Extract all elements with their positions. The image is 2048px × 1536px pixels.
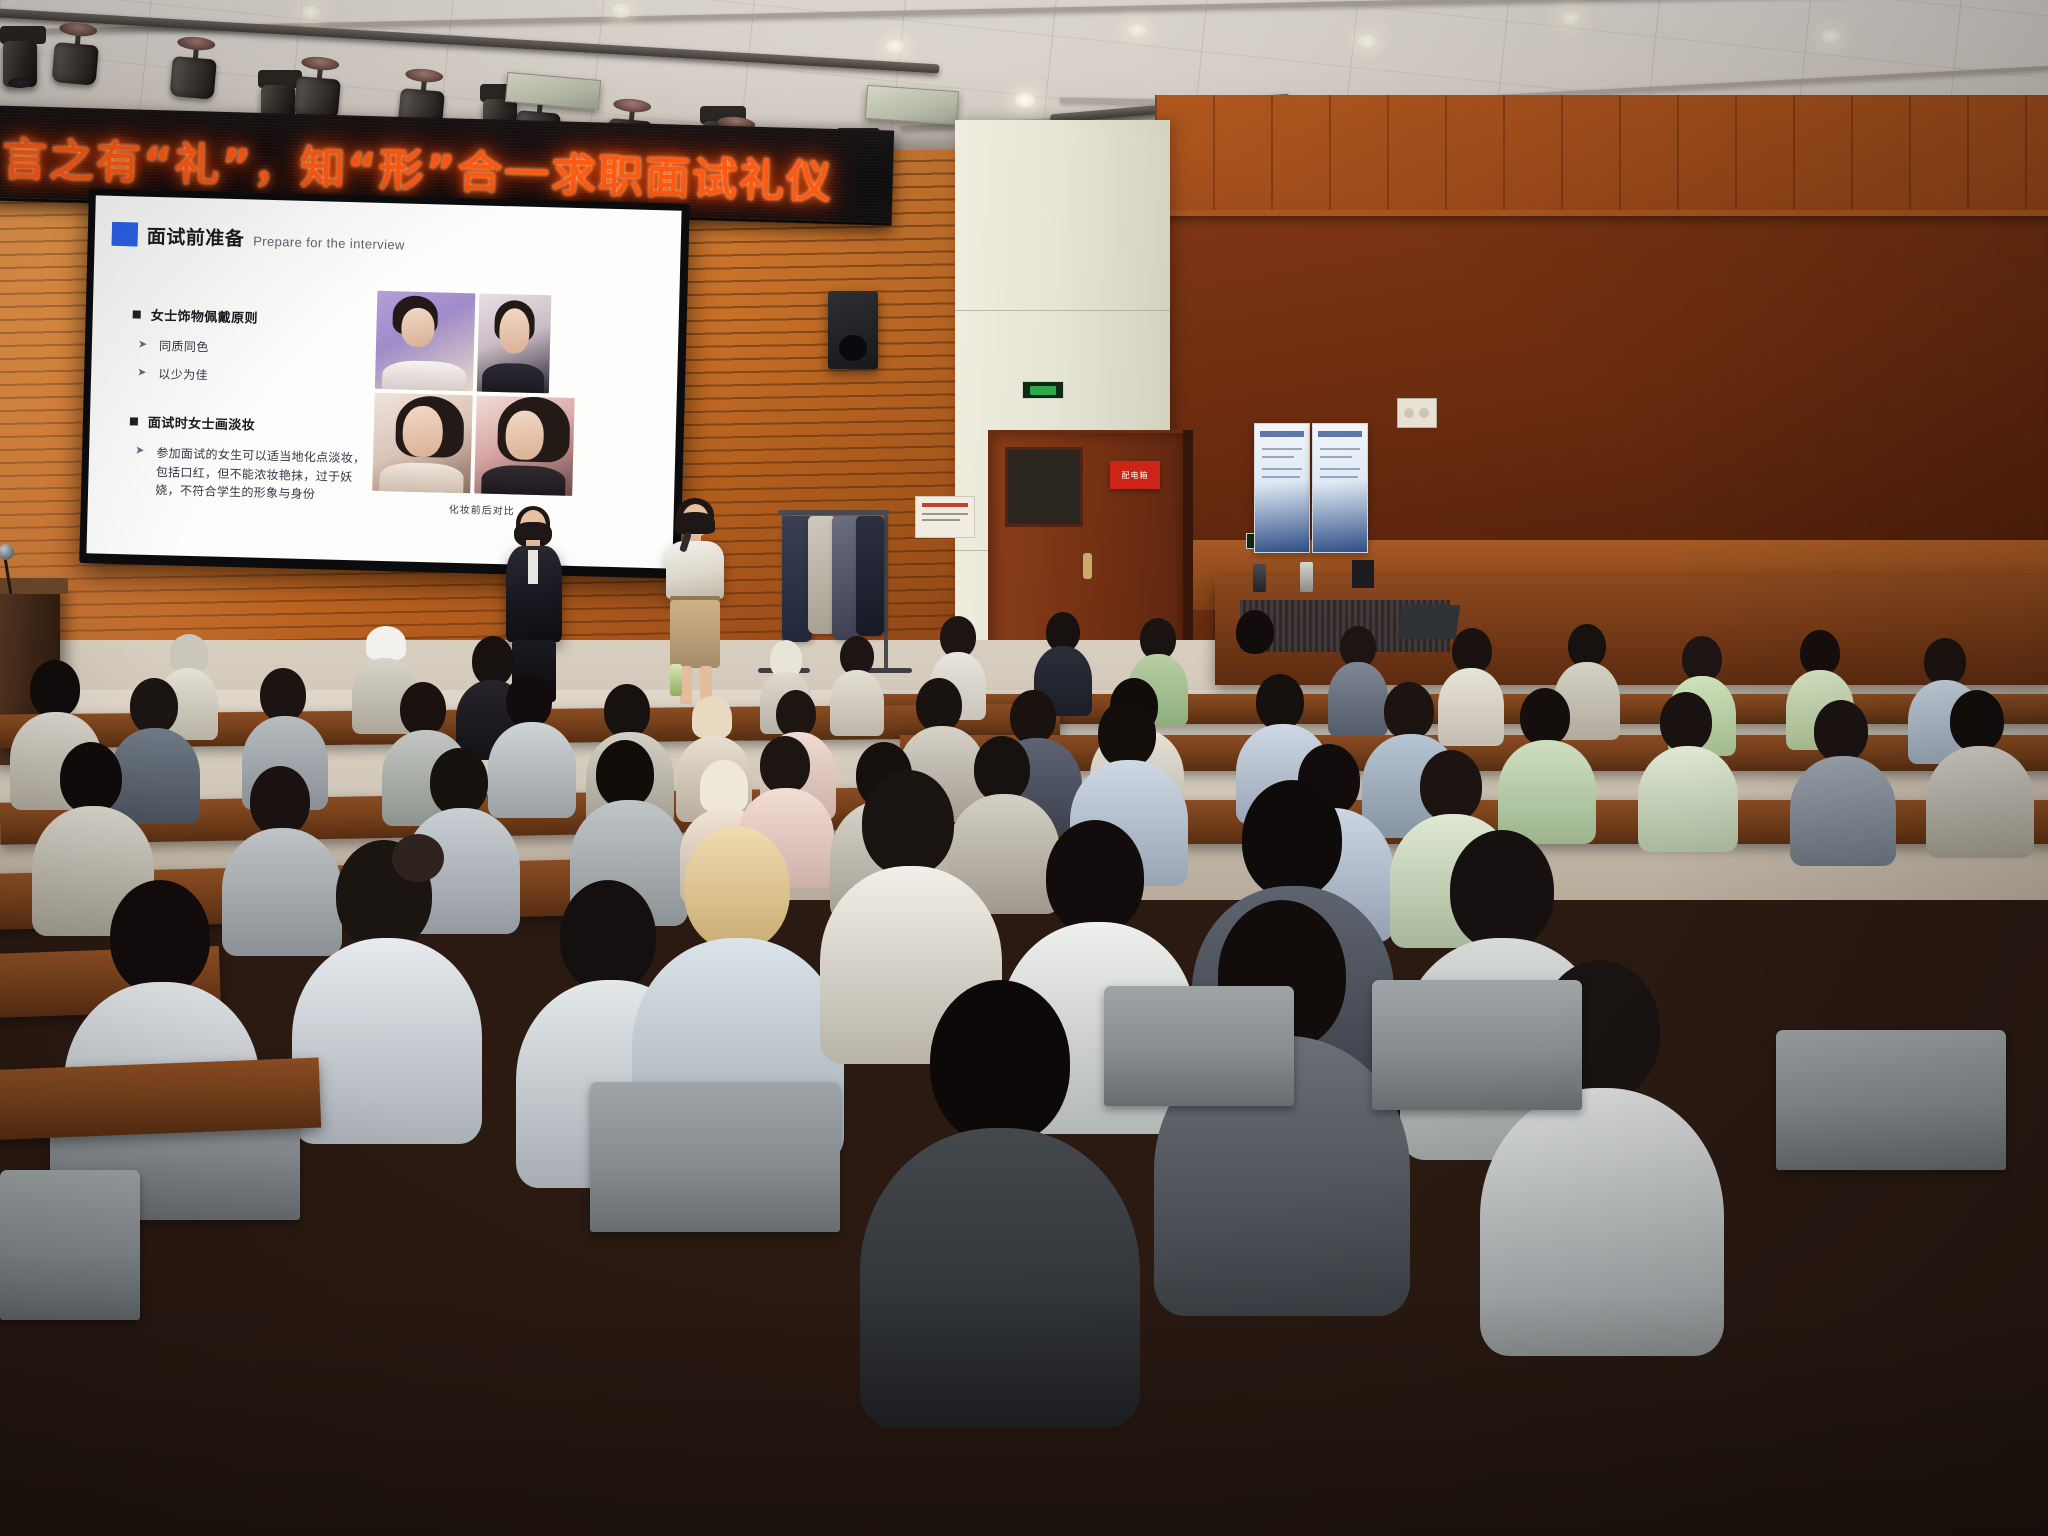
slide-photo-grid bbox=[372, 291, 597, 501]
seat-back bbox=[1104, 986, 1294, 1106]
photo-model-lavender bbox=[375, 291, 476, 392]
electrical-panel-sign-text: 配电箱 bbox=[1122, 470, 1149, 481]
lecture-hall-photo: 言之有“礼”，知“形”合一求职面试礼仪 面试前准备 Prepare for th… bbox=[0, 0, 2048, 1536]
photo-model-suit bbox=[477, 293, 552, 393]
bottle bbox=[1253, 564, 1266, 592]
slide-surface: 面试前准备 Prepare for the interview 女士饰物佩戴原则… bbox=[86, 195, 681, 568]
projection-screen: 面试前准备 Prepare for the interview 女士饰物佩戴原则… bbox=[79, 188, 690, 579]
wall-speaker bbox=[828, 291, 878, 369]
slide-accent-square bbox=[112, 222, 139, 247]
laptop[interactable] bbox=[1398, 605, 1461, 639]
wall-control-box bbox=[1397, 398, 1437, 428]
seat-back bbox=[1776, 1030, 2006, 1170]
slide-title-en: Prepare for the interview bbox=[253, 234, 405, 254]
square-bullet-icon bbox=[133, 310, 141, 318]
side-door-right bbox=[1183, 430, 1193, 670]
slide-title-cn: 面试前准备 bbox=[146, 228, 244, 250]
slide-header: 面试前准备 Prepare for the interview bbox=[112, 222, 406, 254]
clothes-rack-leg-right bbox=[884, 512, 888, 672]
downlight-7 bbox=[1820, 28, 1842, 44]
downlight-1 bbox=[610, 2, 632, 18]
door-handle bbox=[1083, 553, 1092, 579]
slide-bullet-1-2-text: 以少为佳 bbox=[158, 365, 208, 383]
downlight-2 bbox=[884, 38, 906, 54]
bench-front bbox=[0, 1057, 321, 1140]
water-bottle-on-floor bbox=[670, 664, 682, 696]
door-window bbox=[1005, 447, 1083, 527]
thermos-cup bbox=[1300, 562, 1313, 592]
arrow-bullet-icon: ➤ bbox=[138, 340, 148, 351]
clothes-rack-bar bbox=[778, 510, 890, 515]
photo-row-top bbox=[375, 291, 597, 395]
arrow-bullet-icon: ➤ bbox=[134, 443, 145, 499]
console-monitor bbox=[1352, 560, 1374, 588]
info-poster-1 bbox=[1254, 423, 1310, 553]
photo-row-bottom bbox=[372, 393, 594, 497]
seat-back bbox=[590, 1082, 840, 1232]
slide-bullet-1-1-text: 同质同色 bbox=[159, 337, 209, 355]
exit-sign bbox=[1022, 381, 1064, 399]
downlight-8 bbox=[300, 4, 322, 20]
photo-after-makeup bbox=[474, 395, 575, 496]
photo-before-makeup bbox=[372, 393, 473, 494]
electrical-panel-sign: 配电箱 bbox=[1110, 461, 1160, 489]
square-bullet-icon bbox=[130, 417, 138, 425]
downlight-6 bbox=[1560, 10, 1582, 26]
garment-4 bbox=[856, 516, 884, 636]
arrow-bullet-icon: ➤ bbox=[137, 368, 147, 379]
information-board bbox=[915, 496, 975, 538]
info-poster-2 bbox=[1312, 423, 1368, 553]
downlight-4 bbox=[1356, 33, 1378, 49]
slide-heading-1-text: 女士饰物佩戴原则 bbox=[150, 305, 258, 327]
downlight-5 bbox=[1014, 92, 1036, 108]
seat-back bbox=[1372, 980, 1582, 1110]
slide-heading-2-text: 面试时女士画淡妆 bbox=[148, 412, 256, 434]
seat-back bbox=[0, 1170, 140, 1320]
exit-running-man-icon bbox=[1030, 386, 1056, 395]
downlight-3 bbox=[1126, 22, 1148, 38]
